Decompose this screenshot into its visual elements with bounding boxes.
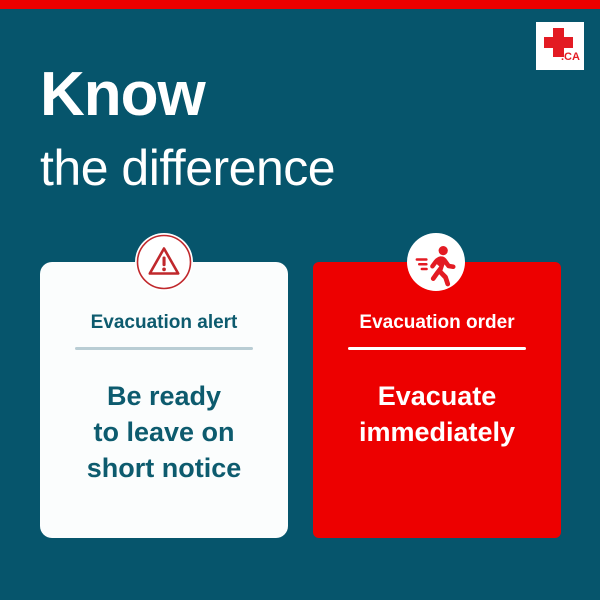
card-evacuation-order: Evacuation order Evacuate immediately	[313, 262, 561, 538]
card-body-line: immediately	[313, 414, 561, 450]
card-title-evacuation-order: Evacuation order	[313, 311, 561, 334]
logo-domain-suffix: .CA	[561, 51, 580, 63]
card-body-line: Be ready	[40, 378, 288, 414]
card-divider-alert	[75, 347, 253, 350]
card-body-evacuation-alert: Be ready to leave on short notice	[40, 378, 288, 486]
canadian-red-cross-logo: .CA	[536, 22, 584, 70]
card-body-line: short notice	[40, 450, 288, 486]
card-body-evacuation-order: Evacuate immediately	[313, 378, 561, 450]
red-cross-icon-horizontal	[544, 37, 573, 48]
card-divider-order	[348, 347, 526, 350]
warning-triangle-icon	[135, 233, 193, 291]
page-title: Know	[40, 62, 205, 128]
top-red-bar	[0, 0, 600, 9]
poster-canvas: .CA Know the difference Evacuation alert…	[0, 0, 600, 600]
card-evacuation-alert: Evacuation alert Be ready to leave on sh…	[40, 262, 288, 538]
card-body-line: to leave on	[40, 414, 288, 450]
page-subtitle: the difference	[40, 140, 335, 196]
card-title-evacuation-alert: Evacuation alert	[40, 311, 288, 334]
card-body-line: Evacuate	[313, 378, 561, 414]
running-person-icon	[407, 233, 465, 291]
